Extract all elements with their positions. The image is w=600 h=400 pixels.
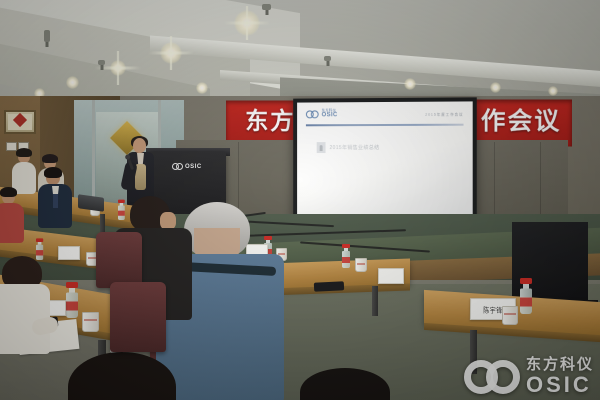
smartphone-icon[interactable] xyxy=(314,281,344,292)
chair[interactable] xyxy=(110,282,166,352)
light-switch[interactable] xyxy=(6,142,17,151)
name-card xyxy=(378,268,404,284)
ceiling-downlight-icon xyxy=(490,82,501,93)
ceiling-downlight-icon xyxy=(66,76,79,89)
osic-watermark: 东方科仪 OSIC xyxy=(464,357,594,396)
ceiling-downlight-icon xyxy=(234,10,260,36)
banner-text-right: 作会议 xyxy=(481,104,561,141)
sprinkler-head-icon xyxy=(324,56,331,61)
ceiling-downlight-icon xyxy=(110,60,126,76)
water-bottle-icon xyxy=(342,244,350,268)
water-bottle-icon xyxy=(520,278,532,314)
conference-room-photo: 东方科仪 作会议 东方科仪 OSIC 2015年度工作会议 2015年销售业绩总… xyxy=(0,0,600,400)
chair[interactable] xyxy=(96,232,142,288)
wall-plaque xyxy=(4,110,36,134)
ceiling-downlight-icon xyxy=(404,78,416,90)
projection-screen: 东方科仪 OSIC 2015年度工作会议 2015年销售业绩总结 xyxy=(297,101,473,216)
watermark-cn-text: 东方科仪 xyxy=(526,357,594,372)
osic-rings-logo-icon xyxy=(464,360,520,394)
paper-cup-icon xyxy=(502,306,518,325)
ceiling-downlight-icon xyxy=(196,82,208,94)
lectern-logo: OSIC xyxy=(172,163,202,170)
paper-cup-icon xyxy=(82,312,99,332)
sprinkler-head-icon xyxy=(44,30,50,42)
water-bottle-icon xyxy=(36,238,43,260)
watermark-en-text: OSIC xyxy=(526,374,594,396)
sprinkler-head-icon xyxy=(262,4,271,10)
osic-rings-logo-icon xyxy=(172,163,183,170)
name-card-text: 陈宇锋 xyxy=(483,304,503,314)
projector-glare xyxy=(297,101,473,216)
ceiling-downlight-icon xyxy=(548,86,558,96)
sprinkler-head-icon xyxy=(98,60,105,65)
table-leg xyxy=(372,286,378,316)
water-bottle-icon xyxy=(66,282,78,318)
water-bottle-icon xyxy=(118,200,125,220)
projection-screen-frame: 东方科仪 OSIC 2015年度工作会议 2015年销售业绩总结 xyxy=(293,97,477,220)
lectern-logo-text: OSIC xyxy=(185,164,202,170)
ceiling-downlight-icon xyxy=(160,42,182,64)
name-card xyxy=(58,246,80,260)
paper-cup-icon xyxy=(355,258,367,272)
